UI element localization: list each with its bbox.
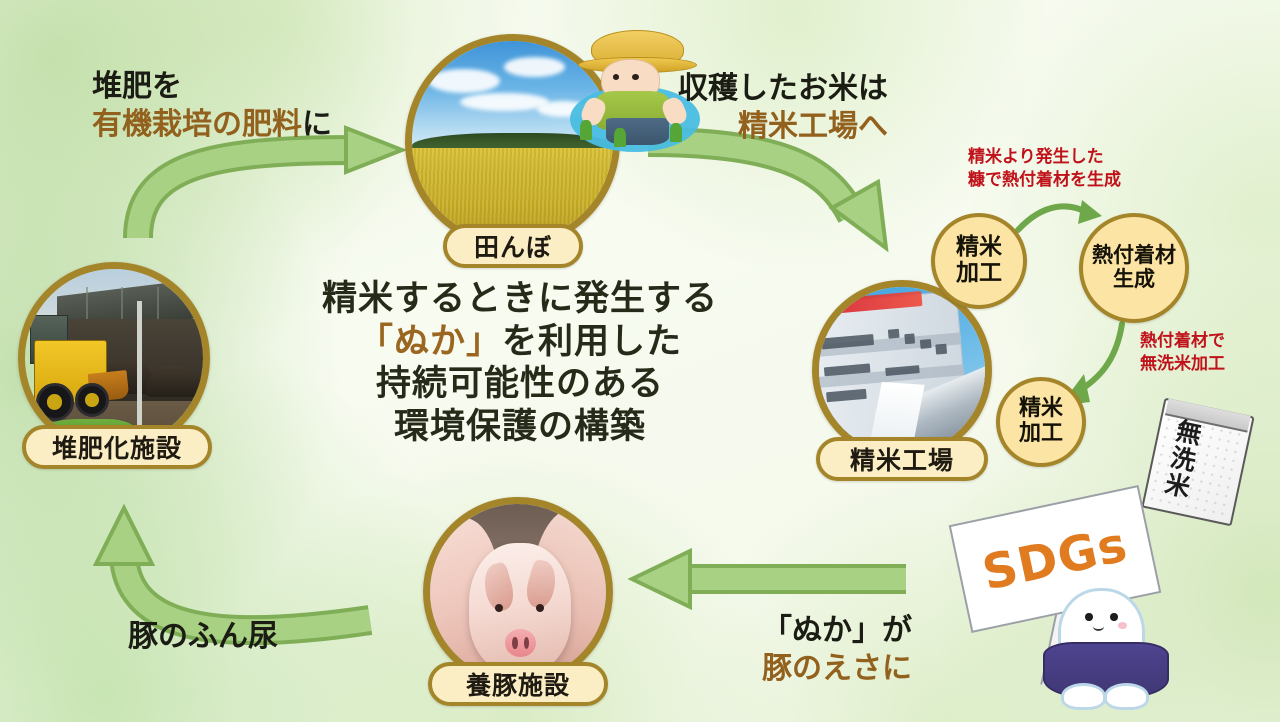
- caption-pigfarm-to-compost: 豚のふん尿: [128, 618, 278, 656]
- center-headline-line2: 「ぬか」を利用した: [270, 321, 770, 364]
- arrow-factory-to-pigfarm: [620, 545, 920, 615]
- center-headline-line3: 持続可能性のある: [270, 363, 770, 406]
- caption-compost-to-paddy-line1: 堆肥を: [92, 68, 332, 106]
- caption-compost-to-paddy-line2: 有機栽培の肥料に: [92, 106, 332, 144]
- note-adhesive-to-musenmai: 熱付着材で 無洗米加工: [1140, 330, 1225, 376]
- note-bran-to-adhesive-line1: 精米より発生した: [968, 146, 1121, 169]
- label-factory-text: 精米工場: [850, 441, 954, 477]
- caption-paddy-to-factory-line2: 精米工場へ: [678, 108, 888, 146]
- circle-node-adhesive-line2: 生成: [1113, 268, 1155, 292]
- circle-node-milling-2-line1: 精米: [1019, 397, 1063, 422]
- label-paddy: 田んぼ: [443, 224, 583, 268]
- note-adhesive-to-musenmai-line1: 熱付着材で: [1140, 330, 1225, 353]
- label-compost: 堆肥化施設: [22, 425, 212, 469]
- caption-compost-to-paddy-line2-black: に: [302, 107, 332, 142]
- center-headline-line2-rest: を利用した: [502, 322, 682, 362]
- circle-node-milling-2-line2: 加工: [1019, 422, 1063, 447]
- center-headline: 精米するときに発生する 「ぬか」を利用した 持続可能性のある 環境保護の構築: [270, 278, 770, 449]
- caption-pigfarm-to-compost-line1: 豚のふん尿: [128, 619, 278, 654]
- caption-factory-to-pigfarm: 「ぬか」が 豚のえさに: [762, 612, 912, 689]
- caption-paddy-to-factory: 収穫したお米は 精米工場へ: [678, 70, 888, 147]
- label-paddy-text: 田んぼ: [474, 228, 552, 264]
- circle-node-milling-1-line1: 精米: [956, 235, 1002, 261]
- circle-node-milling-2: 精米 加工: [996, 377, 1086, 467]
- musenmai-rice-bag: 無洗米: [1141, 398, 1254, 527]
- note-bran-to-adhesive-line2: 糠で熱付着材を生成: [968, 169, 1121, 192]
- note-adhesive-to-musenmai-line2: 無洗米加工: [1140, 353, 1225, 376]
- circle-node-adhesive-line1: 熱付着材: [1092, 244, 1176, 268]
- label-compost-text: 堆肥化施設: [52, 429, 182, 465]
- caption-compost-to-paddy: 堆肥を 有機栽培の肥料に: [92, 68, 332, 145]
- rice-mascot: [1040, 580, 1170, 710]
- caption-factory-to-pigfarm-line1: 「ぬか」が: [762, 612, 912, 650]
- label-pig-farm: 養豚施設: [428, 662, 608, 706]
- label-factory: 精米工場: [816, 437, 988, 481]
- node-photo-pig-farm: [423, 497, 613, 687]
- caption-factory-to-pigfarm-line2: 豚のえさに: [762, 650, 912, 688]
- circle-node-adhesive: 熱付着材 生成: [1079, 213, 1189, 323]
- circle-node-milling-1-line2: 加工: [956, 261, 1002, 287]
- note-bran-to-adhesive: 精米より発生した 糠で熱付着材を生成: [968, 146, 1121, 192]
- center-headline-line4: 環境保護の構築: [270, 406, 770, 449]
- circle-node-milling-1: 精米 加工: [931, 213, 1027, 309]
- infographic-canvas: 田んぼ 堆肥化施設: [0, 0, 1280, 722]
- caption-paddy-to-factory-line1: 収穫したお米は: [678, 70, 888, 108]
- label-pig-farm-text: 養豚施設: [466, 666, 570, 702]
- center-headline-highlight: 「ぬか」: [358, 322, 502, 362]
- caption-compost-to-paddy-line2-brown: 有機栽培の肥料: [92, 107, 302, 142]
- center-headline-line1: 精米するときに発生する: [270, 278, 770, 321]
